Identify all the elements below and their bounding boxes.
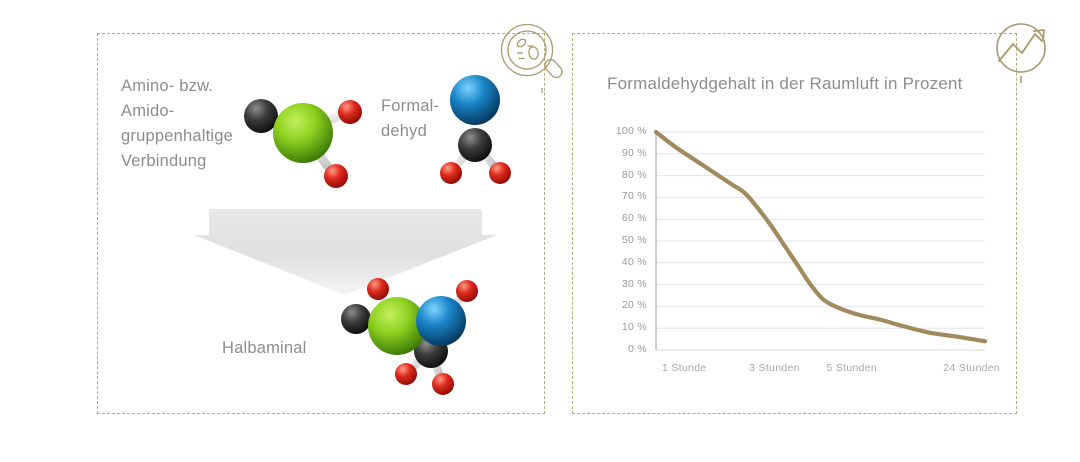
infographic-canvas: Amino- bzw. Amido- gruppenhaltige Verbin…: [0, 0, 1080, 462]
y-tick-label: 10 %: [600, 321, 647, 333]
formaldehyde-molecule: [434, 72, 520, 188]
series-line: [656, 132, 985, 341]
x-tick-label: 5 Stunden: [827, 362, 878, 374]
y-tick-label: 40 %: [600, 256, 647, 268]
chart-title: Formaldehydgehalt in der Raumluft in Pro…: [607, 74, 963, 94]
x-tick-label: 1 Stunde: [662, 362, 706, 374]
y-tick-label: 30 %: [600, 278, 647, 290]
y-tick-label: 80 %: [600, 169, 647, 181]
trend-line-circle-icon: [993, 22, 1053, 84]
halbaminal-molecule: [327, 276, 499, 400]
y-tick-label: 100 %: [600, 125, 647, 137]
amino-compound-molecule: [239, 83, 374, 189]
y-tick-label: 0 %: [600, 343, 647, 355]
x-tick-label: 24 Stunden: [943, 362, 1000, 374]
y-tick-label: 90 %: [600, 147, 647, 159]
x-tick-label: 3 Stunden: [749, 362, 800, 374]
chart-svg: [600, 120, 1000, 382]
y-tick-label: 50 %: [600, 234, 647, 246]
chart-plot: 100 %90 %80 %70 %60 %50 %40 %30 %20 %10 …: [600, 120, 1000, 382]
y-tick-label: 60 %: [600, 212, 647, 224]
y-tick-label: 20 %: [600, 299, 647, 311]
y-tick-label: 70 %: [600, 190, 647, 202]
